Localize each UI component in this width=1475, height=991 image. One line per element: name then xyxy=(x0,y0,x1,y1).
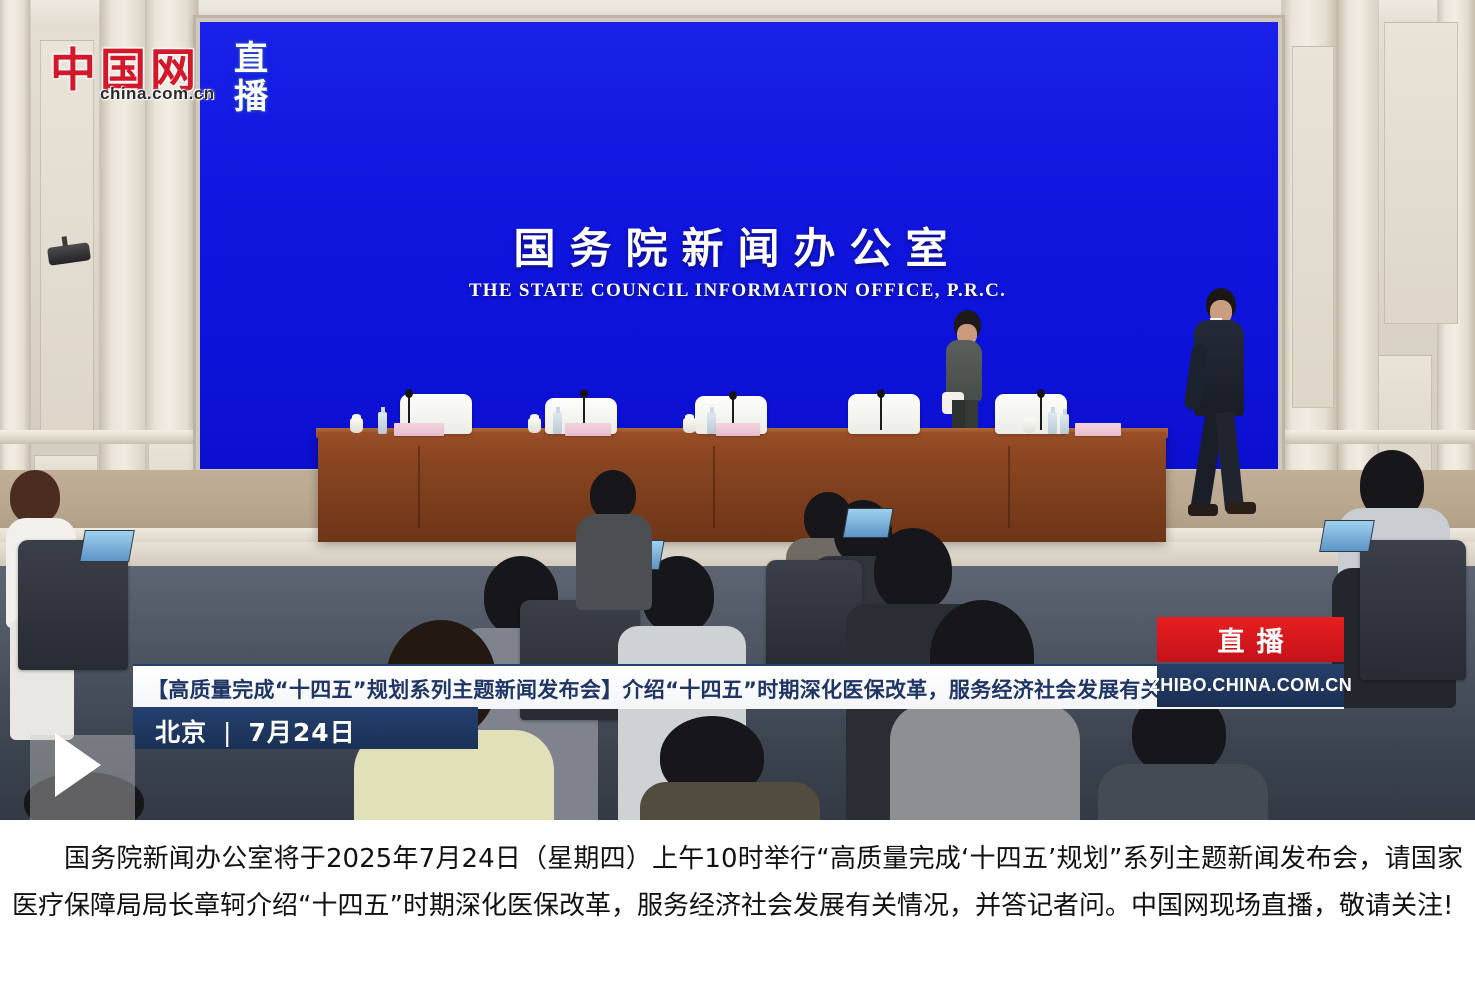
lower-third-meta: 北京|7月24日 xyxy=(155,713,356,749)
video-player[interactable]: 国务院新闻办公室 THE STATE COUNCIL INFORMATION O… xyxy=(0,0,1475,820)
live-watermark-vertical: 直播 xyxy=(228,40,276,116)
stream-url-label: ZHIBO.CHINA.COM.CN xyxy=(1149,675,1352,696)
name-card xyxy=(565,423,611,436)
laptop-screen xyxy=(1319,520,1375,552)
tea-cup xyxy=(1023,418,1036,433)
live-badge-label: 直播 xyxy=(1206,620,1296,659)
water-bottle xyxy=(378,412,387,434)
water-bottle xyxy=(707,412,716,434)
laptop-screen xyxy=(79,530,135,562)
lower-third-location: 北京 xyxy=(155,718,207,747)
tea-cup xyxy=(528,418,541,433)
caption-text: 国务院新闻办公室将于2025年7月24日（星期四）上午10时举行“高质量完成‘十… xyxy=(0,820,1475,930)
name-card xyxy=(716,423,760,436)
water-bottle xyxy=(1048,412,1057,434)
lower-third-headline: 【高质量完成“十四五”规划系列主题新闻发布会】介绍“十四五”时期深化医保改革，服… xyxy=(147,674,1205,704)
podium-chair xyxy=(848,394,920,434)
wall-panel xyxy=(1384,22,1458,324)
live-badge: 直播 xyxy=(1157,617,1344,662)
lower-third-separator: | xyxy=(223,718,232,747)
stream-url-badge: ZHIBO.CHINA.COM.CN xyxy=(1157,664,1344,707)
water-bottle xyxy=(553,412,562,434)
tea-cup xyxy=(683,418,696,433)
audience-member xyxy=(640,716,820,820)
audience-member xyxy=(880,600,1090,820)
play-icon[interactable] xyxy=(55,733,101,797)
microphone-icon xyxy=(1040,396,1042,430)
tea-cup xyxy=(350,418,363,433)
person-walking-man xyxy=(1186,288,1256,526)
microphone-icon xyxy=(880,396,882,430)
water-bottle xyxy=(1060,414,1069,434)
logo-url-text: china.com.cn xyxy=(100,84,215,104)
channel-watermark: 中国网 china.com.cn xyxy=(40,34,212,106)
person-walking-woman xyxy=(938,310,994,442)
name-card xyxy=(1075,423,1121,436)
podium-table xyxy=(318,432,1166,542)
audience-seat xyxy=(1360,540,1466,680)
audience-member xyxy=(568,470,658,600)
lower-third-meta-bar: 北京|7月24日 xyxy=(133,707,478,749)
audience-member xyxy=(1098,690,1268,820)
screen-title-cn: 国务院新闻办公室 xyxy=(0,215,1475,276)
caption-area: 国务院新闻办公室将于2025年7月24日（星期四）上午10时举行“高质量完成‘十… xyxy=(0,820,1475,991)
china-net-logo: 中国网 china.com.cn xyxy=(40,34,212,106)
lower-third-date: 7月24日 xyxy=(248,718,355,747)
name-card xyxy=(394,423,444,436)
